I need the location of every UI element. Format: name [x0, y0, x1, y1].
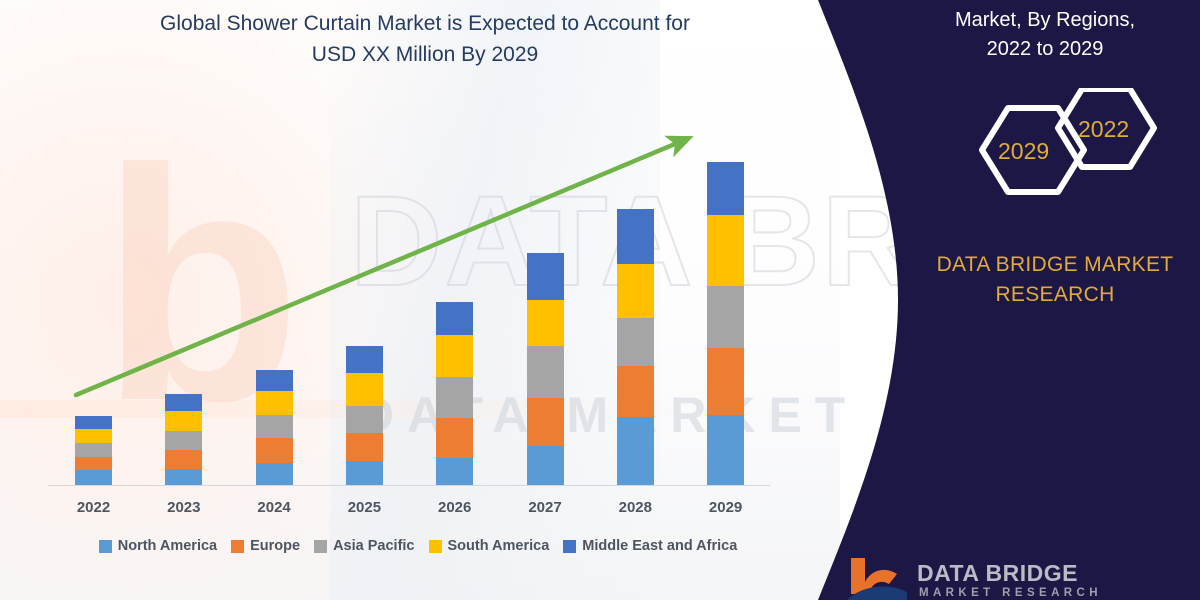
bar-segment-south-america — [436, 335, 473, 377]
legend-swatch-icon — [99, 540, 112, 553]
bar-segment-north-america — [436, 458, 473, 485]
bar-segment-europe — [436, 418, 473, 458]
bar-segment-asia-pacific — [165, 431, 202, 450]
logo-name: DATA BRIDGE — [917, 560, 1078, 587]
x-axis-label-2023: 2023 — [149, 499, 219, 516]
legend-label: South America — [448, 538, 550, 554]
plot-area: 20222023202420252026202720282029 — [0, 0, 840, 600]
bar-segment-south-america — [346, 373, 383, 406]
x-axis-label-2025: 2025 — [329, 499, 399, 516]
logo-tagline: MARKET RESEARCH — [919, 587, 1102, 599]
hexagon-label-2022: 2022 — [1078, 116, 1129, 143]
bar-2024 — [256, 370, 293, 485]
bar-segment-middle-east-and-africa — [256, 370, 293, 391]
company-logo: DATA BRIDGE MARKET RESEARCH — [845, 556, 1095, 600]
bar-segment-south-america — [527, 300, 564, 346]
bar-segment-europe — [165, 450, 202, 469]
panel-title-line-1: Market, By Regions, — [900, 6, 1190, 35]
chart-infographic: b DATA BRIDGE DATA MARKET RESEARCH Globa… — [0, 0, 1200, 600]
bar-segment-middle-east-and-africa — [75, 416, 112, 430]
bar-segment-europe — [707, 348, 744, 416]
panel-title-line-2: 2022 to 2029 — [900, 35, 1190, 64]
bar-segment-south-america — [617, 264, 654, 319]
bar-segment-asia-pacific — [707, 286, 744, 348]
hexagon-group: 2029 2022 — [970, 88, 1190, 228]
bar-segment-europe — [617, 366, 654, 417]
x-axis-label-2024: 2024 — [239, 499, 309, 516]
brand-line-2: RESEARCH — [920, 280, 1190, 310]
bar-segment-asia-pacific — [75, 443, 112, 457]
bar-segment-north-america — [707, 415, 744, 484]
brand-panel: Market, By Regions, 2022 to 2029 2029 20… — [780, 0, 1200, 600]
bar-segment-south-america — [707, 215, 744, 285]
bar-segment-asia-pacific — [617, 318, 654, 366]
bar-2025 — [346, 346, 383, 485]
bar-segment-asia-pacific — [436, 377, 473, 419]
bar-segment-middle-east-and-africa — [436, 302, 473, 335]
bar-segment-south-america — [75, 429, 112, 443]
bar-segment-north-america — [346, 461, 383, 485]
bar-segment-europe — [346, 433, 383, 461]
bar-2022 — [75, 416, 112, 485]
legend-item-2[interactable]: Asia Pacific — [314, 538, 414, 554]
bar-segment-north-america — [165, 469, 202, 485]
brand-line-1: DATA BRIDGE MARKET — [920, 250, 1190, 280]
chart-legend: North AmericaEuropeAsia PacificSouth Ame… — [48, 538, 788, 554]
x-axis-line — [48, 485, 770, 486]
bar-segment-middle-east-and-africa — [527, 253, 564, 299]
legend-item-4[interactable]: Middle East and Africa — [563, 538, 737, 554]
bar-2028 — [617, 209, 654, 485]
bar-2023 — [165, 394, 202, 485]
bar-segment-north-america — [617, 417, 654, 485]
x-axis-label-2029: 2029 — [691, 499, 761, 516]
bar-segment-north-america — [527, 446, 564, 485]
legend-swatch-icon — [231, 540, 244, 553]
legend-label: North America — [118, 538, 217, 554]
bar-segment-middle-east-and-africa — [617, 209, 654, 264]
bar-segment-north-america — [75, 470, 112, 485]
legend-swatch-icon — [429, 540, 442, 553]
brand-name: DATA BRIDGE MARKET RESEARCH — [920, 250, 1190, 310]
bar-2027 — [527, 253, 564, 485]
legend-item-1[interactable]: Europe — [231, 538, 300, 554]
hexagon-label-2029: 2029 — [998, 138, 1049, 165]
x-axis-label-2026: 2026 — [420, 499, 490, 516]
bar-segment-europe — [256, 438, 293, 463]
legend-label: Europe — [250, 538, 300, 554]
legend-label: Asia Pacific — [333, 538, 414, 554]
bar-segment-europe — [75, 457, 112, 470]
bar-2026 — [436, 302, 473, 485]
bar-segment-middle-east-and-africa — [165, 394, 202, 411]
x-axis-label-2028: 2028 — [600, 499, 670, 516]
bar-segment-middle-east-and-africa — [346, 346, 383, 373]
bar-segment-asia-pacific — [256, 415, 293, 438]
bar-segment-south-america — [165, 411, 202, 431]
bar-segment-south-america — [256, 391, 293, 414]
legend-label: Middle East and Africa — [582, 538, 737, 554]
bar-segment-asia-pacific — [527, 346, 564, 398]
panel-title: Market, By Regions, 2022 to 2029 — [900, 6, 1190, 64]
bar-segment-asia-pacific — [346, 406, 383, 433]
legend-swatch-icon — [563, 540, 576, 553]
legend-item-3[interactable]: South America — [429, 538, 550, 554]
x-axis-label-2027: 2027 — [510, 499, 580, 516]
bar-segment-middle-east-and-africa — [707, 162, 744, 216]
bar-segment-europe — [527, 398, 564, 446]
x-axis-label-2022: 2022 — [59, 499, 129, 516]
legend-swatch-icon — [314, 540, 327, 553]
bar-segment-north-america — [256, 463, 293, 485]
legend-item-0[interactable]: North America — [99, 538, 217, 554]
bar-2029 — [707, 162, 744, 485]
